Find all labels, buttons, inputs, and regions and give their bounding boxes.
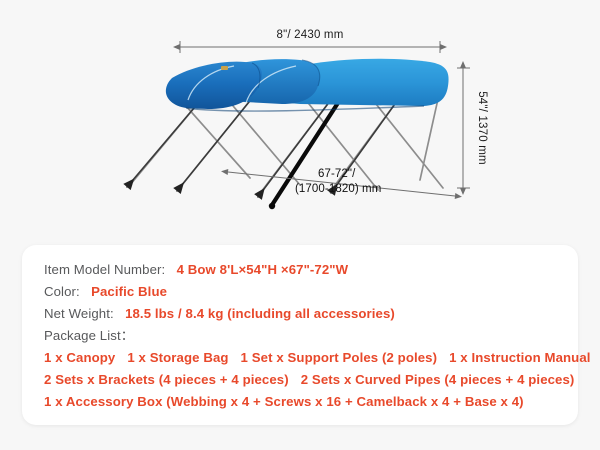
package-line-1: 1 x Canopy1 x Storage Bag1 Set x Support…	[44, 347, 578, 369]
height-dimension-label: 54"/ 1370 mm	[476, 91, 488, 165]
spec-row-color: Color: Pacific Blue	[44, 281, 578, 303]
height-dimension: 54"/ 1370 mm	[457, 68, 488, 188]
spec-value-net-weight: 18.5 lbs / 8.4 kg (including all accesso…	[125, 306, 395, 321]
product-detail-page: 8"/ 2430 mm 54"/ 1370 mm	[0, 0, 600, 450]
length-dimension-label: 8"/ 2430 mm	[276, 29, 343, 41]
spec-label-net-weight: Net Weight:	[44, 306, 114, 321]
spec-value-model: 4 Bow 8'L×54"H ×67"-72"W	[177, 262, 349, 277]
spec-label-model: Item Model Number:	[44, 262, 165, 277]
package-line-2: 2 Sets x Brackets (4 pieces + 4 pieces)2…	[44, 369, 578, 391]
spec-label-color: Color:	[44, 284, 80, 299]
specification-card: Item Model Number: 4 Bow 8'L×54"H ×67"-7…	[22, 245, 578, 425]
package-item: 2 Sets x Curved Pipes (4 pieces + 4 piec…	[301, 372, 575, 387]
package-item: 1 x Storage Bag	[127, 350, 228, 365]
bimini-top-dimension-diagram: 8"/ 2430 mm 54"/ 1370 mm	[0, 0, 600, 240]
width-dimension-label-line1: 67-72"/	[318, 168, 356, 180]
canopy	[166, 59, 449, 111]
width-dimension-label-line2: (1700-1820) mm	[295, 183, 381, 195]
package-item: 1 x Accessory Box (Webbing x 4 + Screws …	[44, 394, 524, 409]
spec-row-model: Item Model Number: 4 Bow 8'L×54"H ×67"-7…	[44, 259, 578, 281]
pole-foot	[269, 203, 275, 209]
package-item: 1 Set x Support Poles (2 poles)	[241, 350, 438, 365]
spec-value-color: Pacific Blue	[91, 284, 167, 299]
spec-row-package-list: Package List：	[44, 325, 578, 347]
canopy-clip-icon	[221, 66, 228, 70]
frame-poles-dark	[127, 95, 400, 197]
length-dimension: 8"/ 2430 mm	[180, 29, 440, 53]
package-item: 1 x Instruction Manual	[449, 350, 590, 365]
package-item: 1 x Canopy	[44, 350, 115, 365]
spec-row-net-weight: Net Weight: 18.5 lbs / 8.4 kg (including…	[44, 303, 578, 325]
package-list-label: Package List：	[44, 328, 134, 343]
package-line-3: 1 x Accessory Box (Webbing x 4 + Screws …	[44, 391, 578, 413]
package-item: 2 Sets x Brackets (4 pieces + 4 pieces)	[44, 372, 289, 387]
